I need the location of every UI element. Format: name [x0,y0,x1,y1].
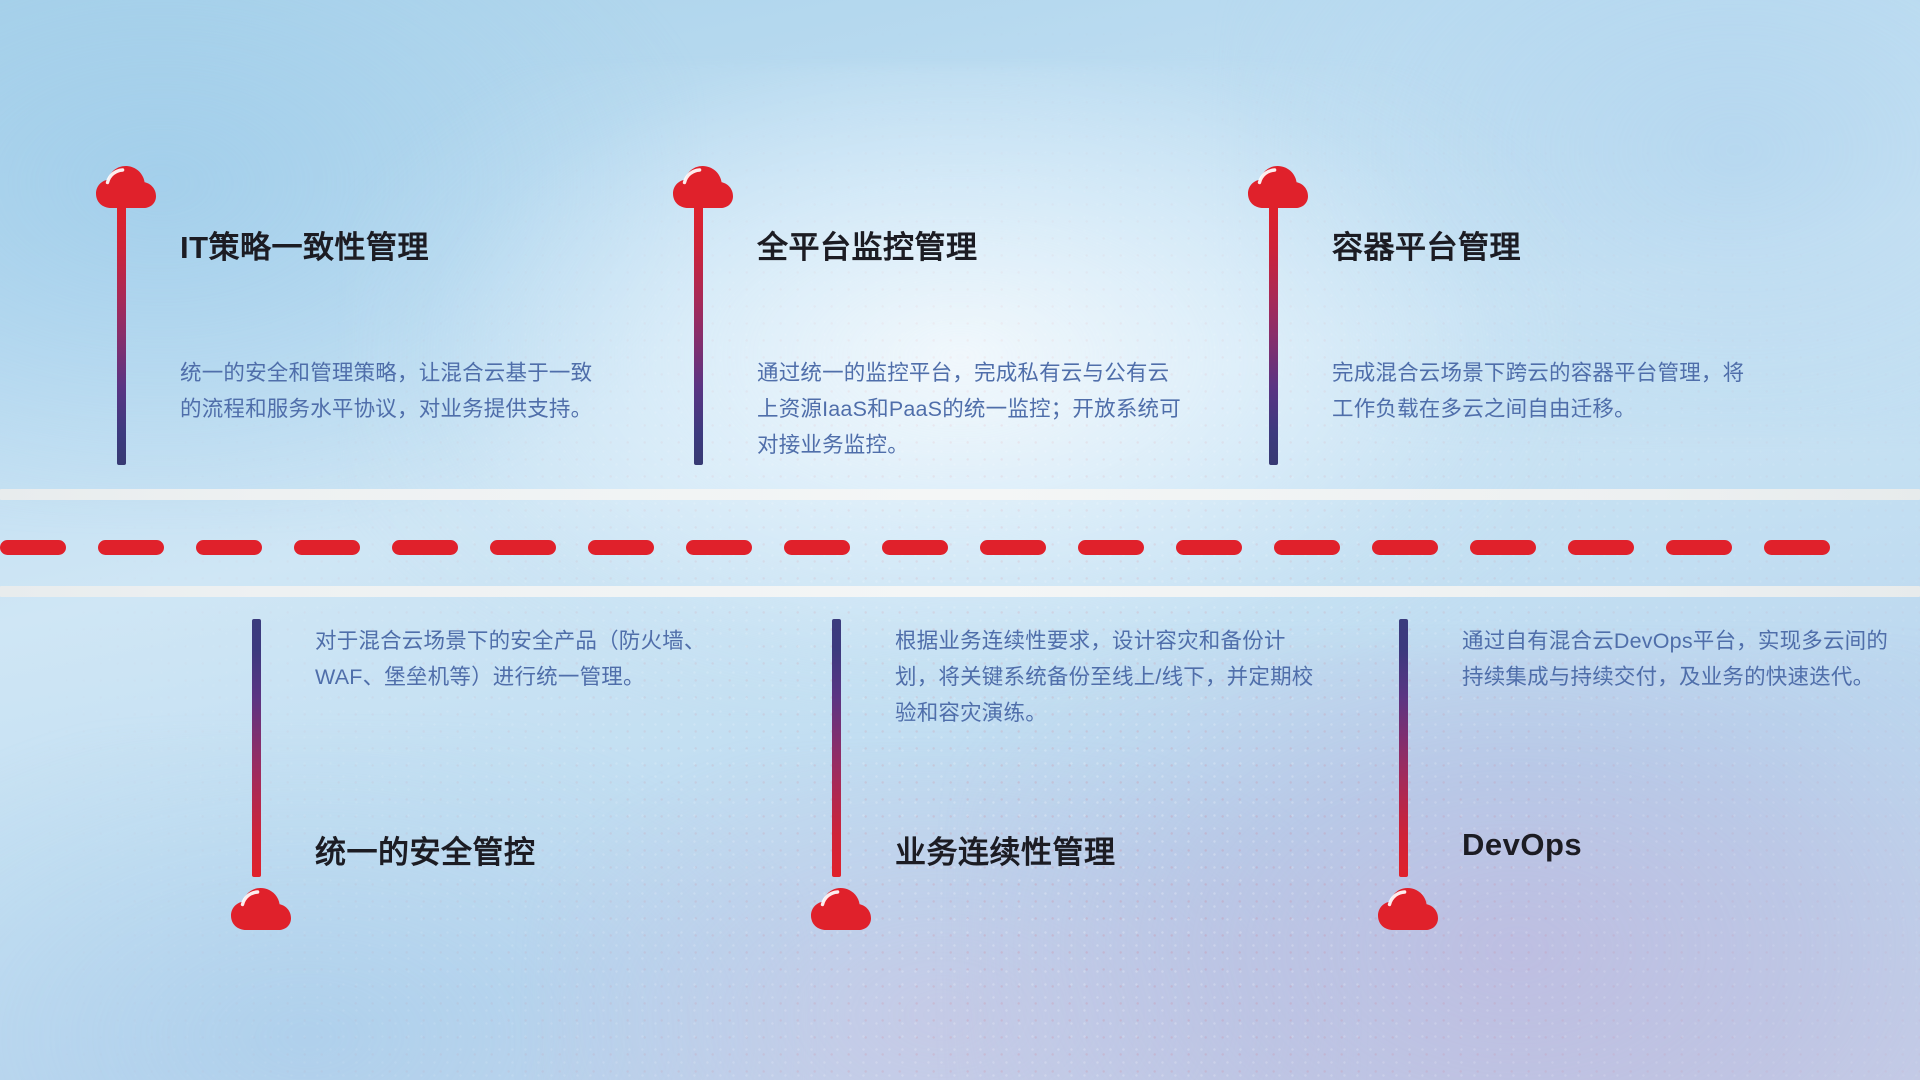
timeline-stem [1399,619,1408,877]
road-edge-bottom [0,586,1920,597]
cloud-icon [1377,887,1439,931]
road-dash [1274,540,1340,555]
card-body: 完成混合云场景下跨云的容器平台管理，将工作负载在多云之间自由迁移。 [1332,355,1762,427]
road-dash [0,540,66,555]
cloud-icon [672,165,734,209]
card-body: 通过自有混合云DevOps平台，实现多云间的持续集成与持续交付，及业务的快速迭代… [1462,623,1892,695]
bottom-row: 对于混合云场景下的安全产品（防火墙、WAF、堡垒机等）进行统一管理。 统一的安全… [0,597,1920,1080]
infographic-stage: IT策略一致性管理 统一的安全和管理策略，让混合云基于一致的流程和服务水平协议，… [0,0,1920,1080]
road-dash [980,540,1046,555]
road-dash [98,540,164,555]
road-dash [294,540,360,555]
road-dash [1764,540,1830,555]
card-body: 根据业务连续性要求，设计容灾和备份计划，将关键系统备份至线上/线下，并定期校验和… [895,623,1325,731]
card-heading: 统一的安全管控 [315,827,536,872]
road-dash [490,540,556,555]
timeline-stem [252,619,261,877]
card-body: 对于混合云场景下的安全产品（防火墙、WAF、堡垒机等）进行统一管理。 [315,623,745,695]
road-edge-top [0,489,1920,500]
card-heading: IT策略一致性管理 [180,222,429,267]
road-dash [686,540,752,555]
card-body: 统一的安全和管理策略，让混合云基于一致的流程和服务水平协议，对业务提供支持。 [180,355,610,427]
road-dash [1470,540,1536,555]
road-dash [882,540,948,555]
timeline-stem [694,205,703,465]
road-dash [1372,540,1438,555]
card-body: 通过统一的监控平台，完成私有云与公有云上资源IaaS和PaaS的统一监控；开放系… [757,355,1187,463]
road-dash [1176,540,1242,555]
cloud-icon [1247,165,1309,209]
card-heading: 业务连续性管理 [895,827,1116,872]
cloud-icon [230,887,292,931]
timeline-stem [1269,205,1278,465]
cloud-icon [95,165,157,209]
cloud-icon [810,887,872,931]
top-row: IT策略一致性管理 统一的安全和管理策略，让混合云基于一致的流程和服务水平协议，… [0,0,1920,489]
card-heading: DevOps [1462,827,1582,863]
road-dash [784,540,850,555]
timeline-stem [117,205,126,465]
road-dash [1666,540,1732,555]
road-dash [1078,540,1144,555]
road-dash [1568,540,1634,555]
card-heading: 全平台监控管理 [757,222,978,267]
road-dash [588,540,654,555]
road-dash [392,540,458,555]
timeline-stem [832,619,841,877]
card-heading: 容器平台管理 [1332,222,1521,267]
road-center-dashes [0,540,1920,555]
road-dash [196,540,262,555]
